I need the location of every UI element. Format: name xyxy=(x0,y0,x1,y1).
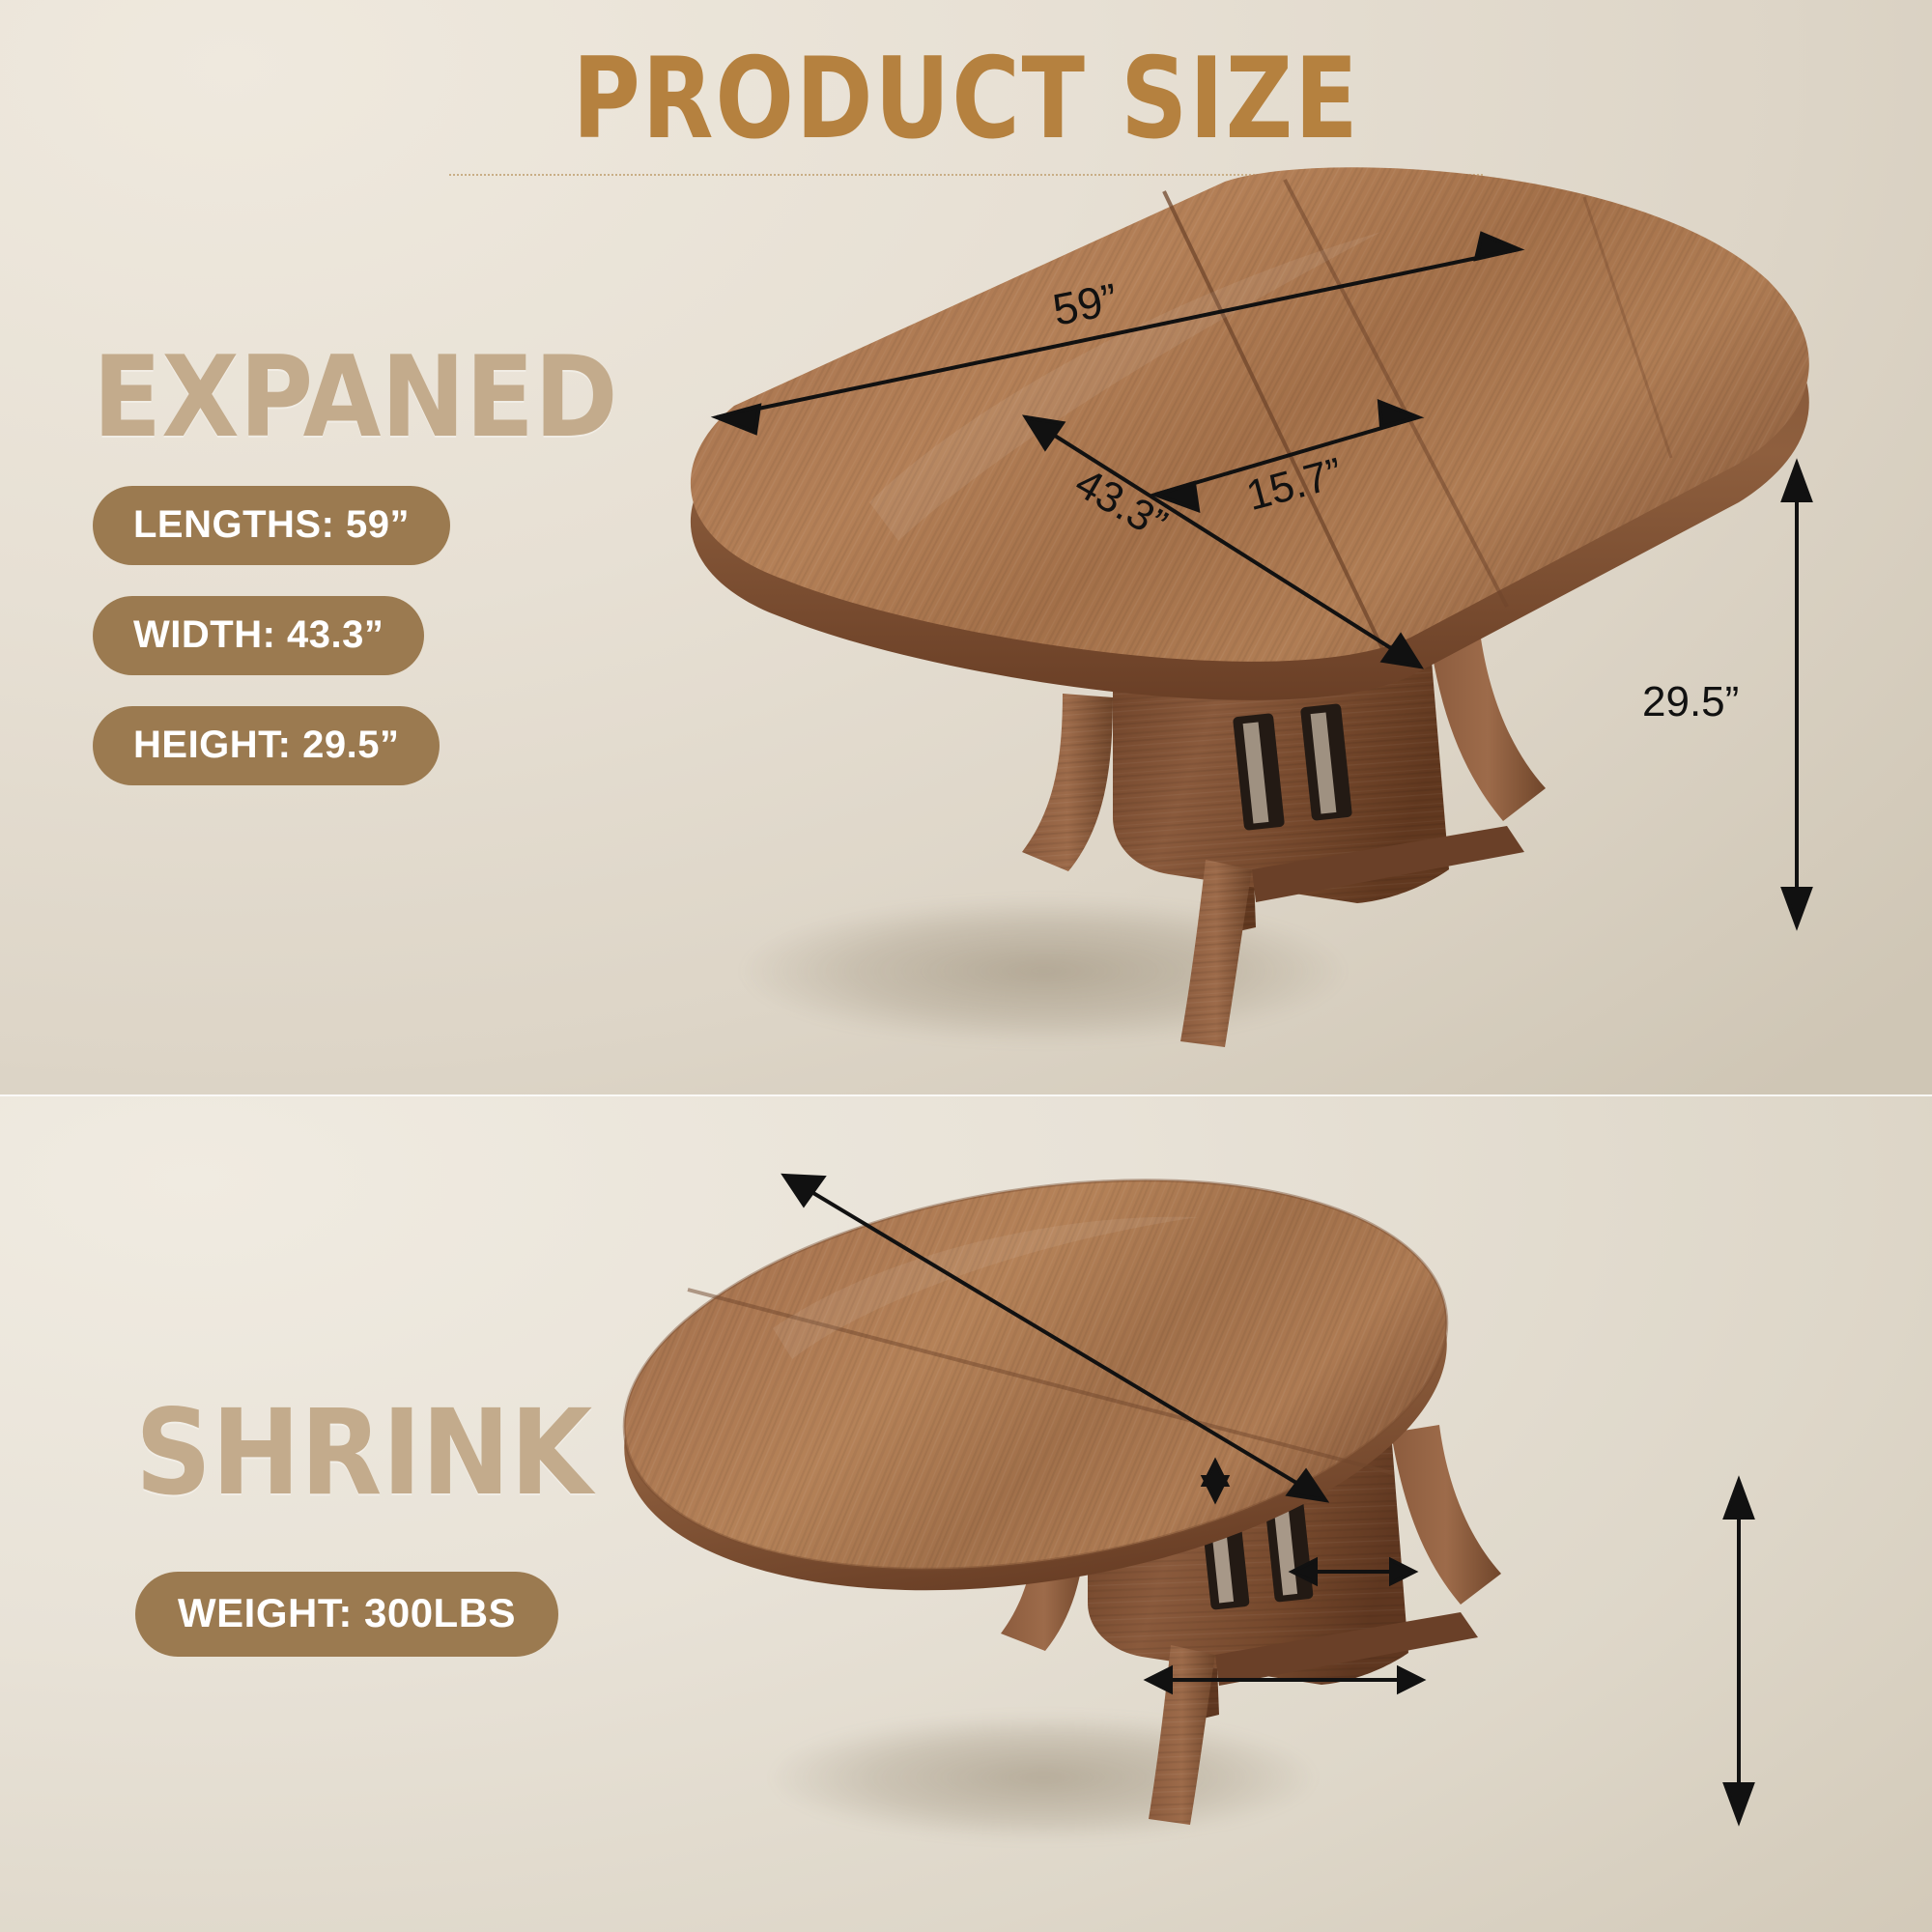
expanded-table-illustration: 59” 43.3” 15.7” 29.5” xyxy=(0,0,1932,1096)
shrink-table-illustration: 43.3” 1.2” 5.4” 16.3” 29.5” xyxy=(0,1096,1932,1932)
expanded-table-svg xyxy=(0,0,1932,1096)
panel-expanded: PRODUCT SIZE EXPANED LENGTHS: 59” WIDTH:… xyxy=(0,0,1932,1096)
panel-shrink: SHRINK WEIGHT: 300LBS xyxy=(0,1096,1932,1932)
tabletop-surface xyxy=(691,167,1809,667)
dimension-label-table-height: 29.5” xyxy=(1642,681,1739,724)
dimension-label-overall-length: 59” xyxy=(1049,276,1121,332)
shrink-table-svg xyxy=(0,1096,1932,1932)
infographic-canvas: PRODUCT SIZE EXPANED LENGTHS: 59” WIDTH:… xyxy=(0,0,1932,1932)
